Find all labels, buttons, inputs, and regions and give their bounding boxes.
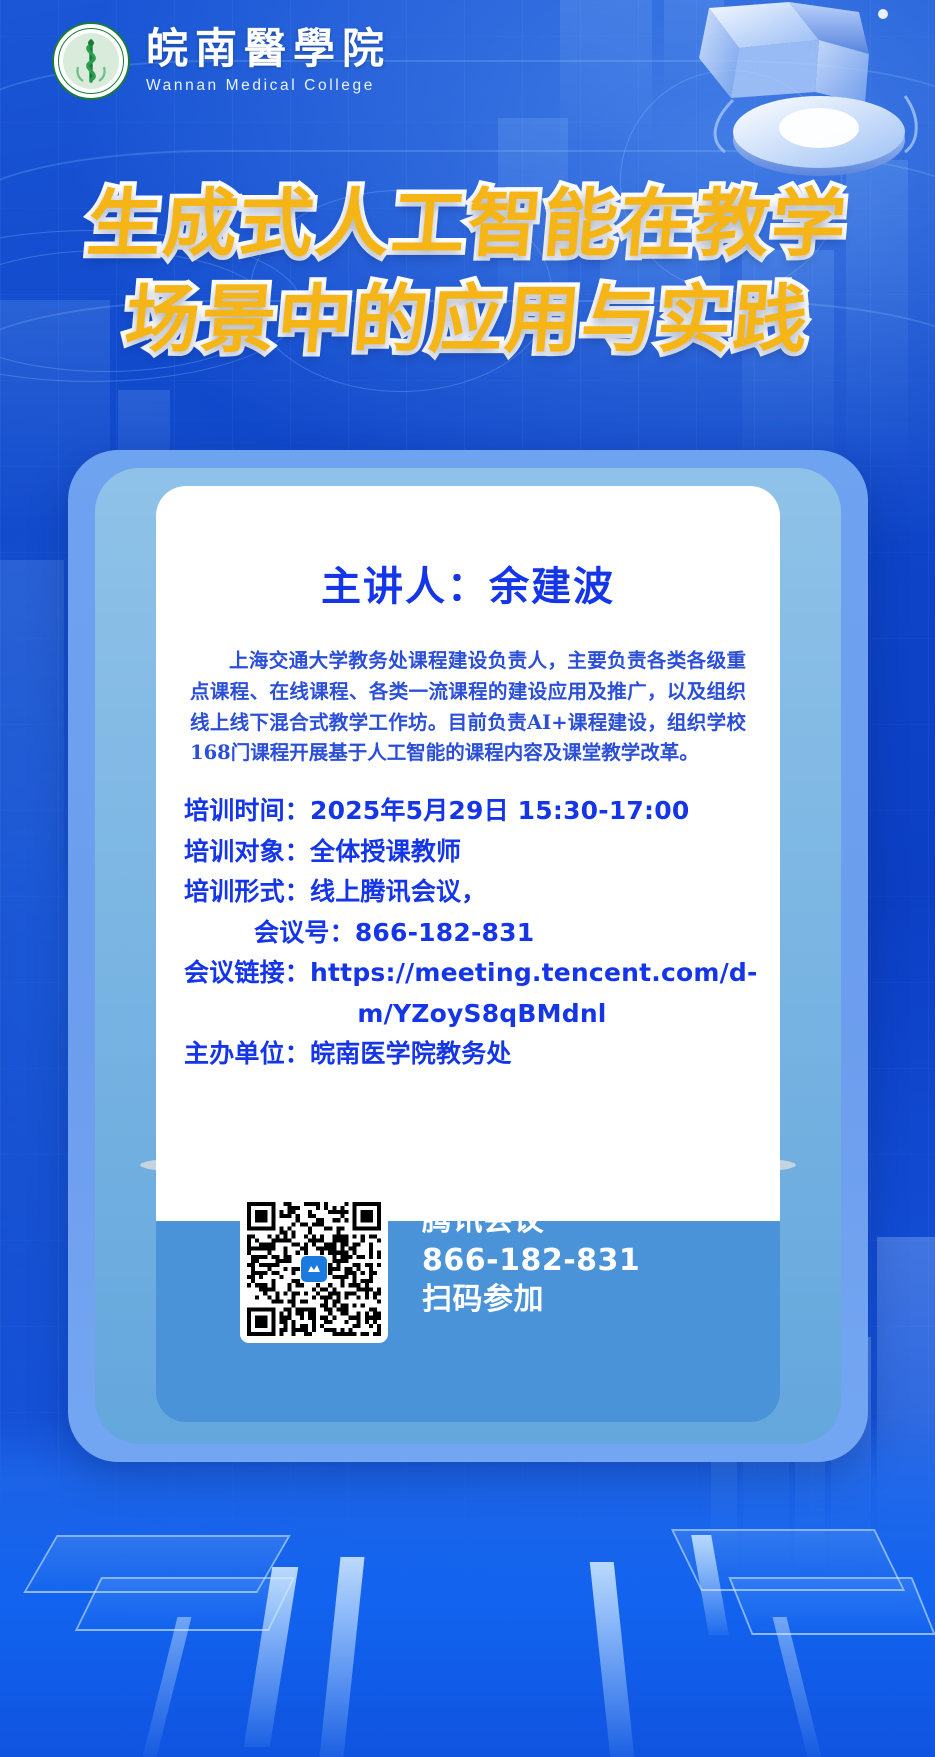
- poster-root: 皖南醫學院 Wannan Medical College 生成式人工智能在教学 …: [0, 0, 935, 1757]
- info-value: 2025年5月29日 15:30-17:00: [310, 791, 689, 832]
- info-row: 培训形式：线上腾讯会议，: [184, 872, 780, 913]
- info-value: m/YZoyS8qBMdnl: [357, 994, 606, 1035]
- title-line-2: 场景中的应用与实践: [0, 272, 935, 368]
- poster-title: 生成式人工智能在教学 场景中的应用与实践: [0, 176, 935, 368]
- card-content: 主讲人：余建波 上海交通大学教务处课程建设负责人，主要负责各类各级重点课程、在线…: [156, 486, 780, 1221]
- logo-name-cn: 皖南醫學院: [146, 27, 391, 71]
- qr-line-3: 扫码参加: [422, 1280, 640, 1320]
- info-value: https://meeting.tencent.com/d-: [310, 953, 758, 994]
- info-label: 主办单位：: [184, 1034, 310, 1075]
- qr-caption: 腾讯会议 866-182-831 扫码参加: [422, 1195, 640, 1320]
- info-value: 866-182-831: [355, 913, 535, 954]
- info-value: 线上腾讯会议，: [310, 872, 486, 913]
- speaker-bio: 上海交通大学教务处课程建设负责人，主要负责各类各级重点课程、在线课程、各类一流课…: [190, 646, 746, 769]
- info-row: m/YZoyS8qBMdnl: [184, 994, 780, 1035]
- background-floor: [0, 1417, 935, 1757]
- qr-section: 腾讯会议 866-182-831 扫码参加: [156, 1195, 780, 1425]
- info-row: 培训时间：2025年5月29日 15:30-17:00: [184, 791, 780, 832]
- info-value: 皖南医学院教务处: [310, 1034, 512, 1075]
- info-label: 培训形式：: [184, 872, 310, 913]
- info-label: 培训时间：: [184, 791, 310, 832]
- qr-line-1: 腾讯会议: [422, 1201, 640, 1241]
- event-info-list: 培训时间：2025年5月29日 15:30-17:00培训对象：全体授课教师培训…: [184, 791, 780, 1075]
- info-value: 全体授课教师: [310, 832, 461, 873]
- title-line-1: 生成式人工智能在教学: [0, 176, 935, 272]
- info-row: 会议号：866-182-831: [184, 913, 780, 954]
- qr-line-2: 866-182-831: [422, 1241, 640, 1281]
- header-logo-group: 皖南醫學院 Wannan Medical College: [52, 22, 391, 100]
- tencent-meeting-logo-icon: [301, 1256, 327, 1282]
- info-label: 会议号：: [254, 913, 355, 954]
- logo-name-en: Wannan Medical College: [146, 77, 391, 95]
- qr-code-icon[interactable]: [240, 1195, 388, 1343]
- snake-staff-seal-icon: [52, 22, 130, 100]
- info-label: 会议链接：: [184, 953, 310, 994]
- speaker-heading: 主讲人：余建波: [156, 554, 780, 612]
- info-label: 培训对象：: [184, 832, 310, 873]
- info-row: 培训对象：全体授课教师: [184, 832, 780, 873]
- info-row: 会议链接：https://meeting.tencent.com/d-: [184, 953, 780, 994]
- info-row: 主办单位：皖南医学院教务处: [184, 1034, 780, 1075]
